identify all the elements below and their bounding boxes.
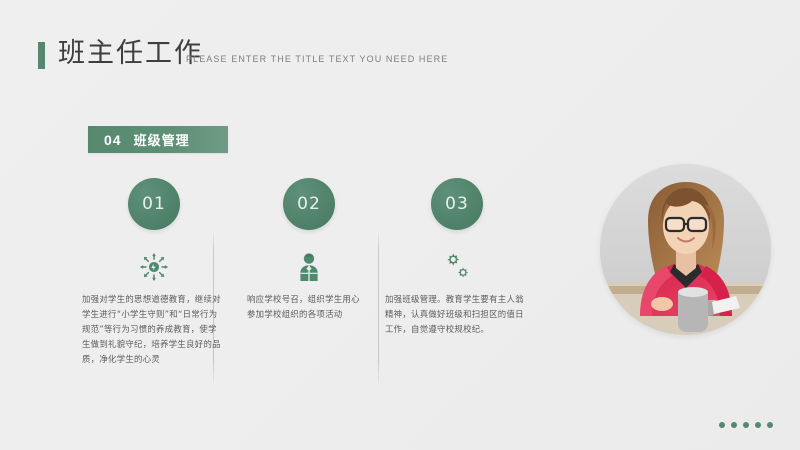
page-title: 班主任工作 xyxy=(58,36,203,72)
column-2-text: 响应学校号召，组织学生用心参加学校组织的各项活动 xyxy=(235,292,383,322)
content-column-3: 03 加强班级管理。教育学生要有主人翁精神，认真做好班级和扫担区的值日工作，自觉… xyxy=(383,178,531,337)
section-banner: 04 班级管理 xyxy=(88,126,228,153)
footer-dot xyxy=(767,422,773,428)
content-columns: 01 加强对学生的思想道德教育，继续对学生进行“小学生守则”和“日常行为规范”等… xyxy=(80,178,570,393)
header-accent-bar xyxy=(38,42,45,69)
step-badge-02: 02 xyxy=(283,178,335,230)
content-column-2: 02 响应学校号召，组织学生用心参加学校组织的各项活动 xyxy=(235,178,383,322)
column-1-text: 加强对学生的思想道德教育，继续对学生进行“小学生守则”和“日常行为规范”等行为习… xyxy=(80,292,228,367)
step-badge-03: 03 xyxy=(431,178,483,230)
footer-dot xyxy=(719,422,725,428)
column-3-text: 加强班级管理。教育学生要有主人翁精神，认真做好班级和扫担区的值日工作，自觉遵守校… xyxy=(383,292,533,337)
person-user-icon xyxy=(235,246,383,288)
gears-icon xyxy=(383,246,531,288)
photo-circle xyxy=(600,164,771,335)
step-badge-01: 01 xyxy=(128,178,180,230)
section-label: 班级管理 xyxy=(134,130,190,149)
section-number: 04 xyxy=(104,132,122,148)
footer-dots xyxy=(719,422,773,428)
page-subtitle: PLEASE ENTER THE TITLE TEXT YOU NEED HER… xyxy=(186,52,448,66)
footer-dot xyxy=(743,422,749,428)
footer-dot xyxy=(755,422,761,428)
footer-dot xyxy=(731,422,737,428)
page-header: 班主任工作 PLEASE ENTER THE TITLE TEXT YOU NE… xyxy=(0,30,800,80)
content-column-1: 01 加强对学生的思想道德教育，继续对学生进行“小学生守则”和“日常行为规范”等… xyxy=(80,178,228,367)
burst-radiate-icon xyxy=(80,246,228,288)
